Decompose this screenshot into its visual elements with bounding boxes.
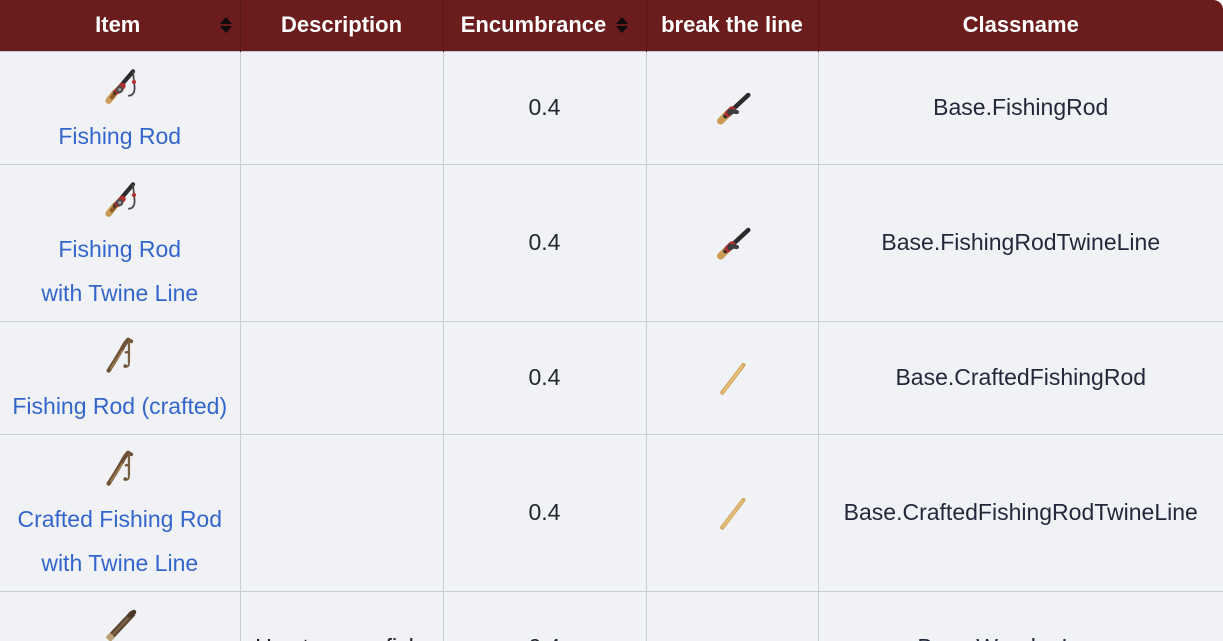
column-header-item-label: Item <box>8 12 210 38</box>
cell-classname: Base.CraftedFishingRodTwineLine <box>818 434 1223 591</box>
broken-fishing-rod-sprite <box>651 80 814 136</box>
classname-text: Base.WoodenLance <box>917 634 1124 641</box>
cell-break-the-line <box>646 164 818 321</box>
table-row: Fishing Rod (crafted) 0.4 Base.CraftedFi… <box>0 321 1223 434</box>
table-body: Fishing Rod 0.4 <box>0 51 1223 641</box>
item-link-line2[interactable]: with Twine Line <box>4 541 236 585</box>
cell-break-the-line <box>646 434 818 591</box>
encumbrance-value: 0.4 <box>529 499 561 525</box>
fishing-rod-sprite <box>4 171 236 227</box>
column-header-encumbrance[interactable]: Encumbrance <box>443 0 646 51</box>
column-header-break-the-line-label: break the line <box>661 12 803 38</box>
table-header-row: Item Description Encumbrance <box>0 0 1223 51</box>
classname-text: Base.FishingRodTwineLine <box>881 229 1160 255</box>
break-the-line-text: - <box>728 634 736 641</box>
encumbrance-value: 0.4 <box>529 94 561 120</box>
item-link[interactable]: Fishing Rod <box>4 114 236 158</box>
cell-item: Fishing Rod <box>0 51 240 164</box>
cell-break-the-line <box>646 51 818 164</box>
column-header-description[interactable]: Description <box>240 0 443 51</box>
broken-fishing-rod-sprite <box>651 215 814 271</box>
cell-item: Fishing Rod (crafted) <box>0 321 240 434</box>
classname-text: Base.FishingRod <box>933 94 1108 120</box>
sort-updown-icon[interactable] <box>616 17 628 33</box>
cell-encumbrance: 0.4 <box>443 164 646 321</box>
crafted-fishing-rod-sprite <box>4 441 236 497</box>
cell-description <box>240 321 443 434</box>
classname-text: Base.CraftedFishingRodTwineLine <box>844 499 1198 525</box>
sort-updown-icon[interactable] <box>220 17 232 33</box>
cell-item: Crafted Spear <box>0 591 240 641</box>
table-row: Crafted Spear Use to spearfish. 0.4 - Ba… <box>0 591 1223 641</box>
cell-description <box>240 51 443 164</box>
column-header-item[interactable]: Item <box>0 0 240 51</box>
cell-encumbrance: 0.4 <box>443 434 646 591</box>
cell-classname: Base.WoodenLance <box>818 591 1223 641</box>
encumbrance-value: 0.4 <box>529 634 561 641</box>
wooden-stick-sprite <box>651 485 814 541</box>
table-row: Fishing Rod with Twine Line 0.4 <box>0 164 1223 321</box>
cell-encumbrance: 0.4 <box>443 591 646 641</box>
cell-item: Crafted Fishing Rod with Twine Line <box>0 434 240 591</box>
cell-classname: Base.FishingRodTwineLine <box>818 164 1223 321</box>
cell-break-the-line: - <box>646 591 818 641</box>
wooden-spear-sprite <box>4 598 236 641</box>
items-table: Item Description Encumbrance <box>0 0 1223 641</box>
column-header-encumbrance-label: Encumbrance <box>461 12 607 38</box>
cell-item: Fishing Rod with Twine Line <box>0 164 240 321</box>
classname-text: Base.CraftedFishingRod <box>895 364 1146 390</box>
encumbrance-value: 0.4 <box>529 364 561 390</box>
cell-classname: Base.CraftedFishingRod <box>818 321 1223 434</box>
description-text: Use to spearfish. <box>255 634 428 641</box>
wooden-stick-sprite <box>651 350 814 406</box>
cell-classname: Base.FishingRod <box>818 51 1223 164</box>
cell-description <box>240 434 443 591</box>
fishing-rod-sprite <box>4 58 236 114</box>
encumbrance-value: 0.4 <box>529 229 561 255</box>
cell-encumbrance: 0.4 <box>443 51 646 164</box>
table-row: Crafted Fishing Rod with Twine Line 0.4 <box>0 434 1223 591</box>
table-row: Fishing Rod 0.4 <box>0 51 1223 164</box>
column-header-classname[interactable]: Classname <box>818 0 1223 51</box>
column-header-break-the-line[interactable]: break the line <box>646 0 818 51</box>
table-header: Item Description Encumbrance <box>0 0 1223 51</box>
column-header-classname-label: Classname <box>963 12 1079 38</box>
cell-description: Use to spearfish. <box>240 591 443 641</box>
crafted-fishing-rod-sprite <box>4 328 236 384</box>
cell-encumbrance: 0.4 <box>443 321 646 434</box>
item-link-line2[interactable]: with Twine Line <box>4 271 236 315</box>
item-link[interactable]: Crafted Fishing Rod <box>4 497 236 541</box>
cell-break-the-line <box>646 321 818 434</box>
cell-description <box>240 164 443 321</box>
column-header-description-label: Description <box>281 12 402 38</box>
item-link[interactable]: Fishing Rod (crafted) <box>4 384 236 428</box>
item-link[interactable]: Fishing Rod <box>4 227 236 271</box>
